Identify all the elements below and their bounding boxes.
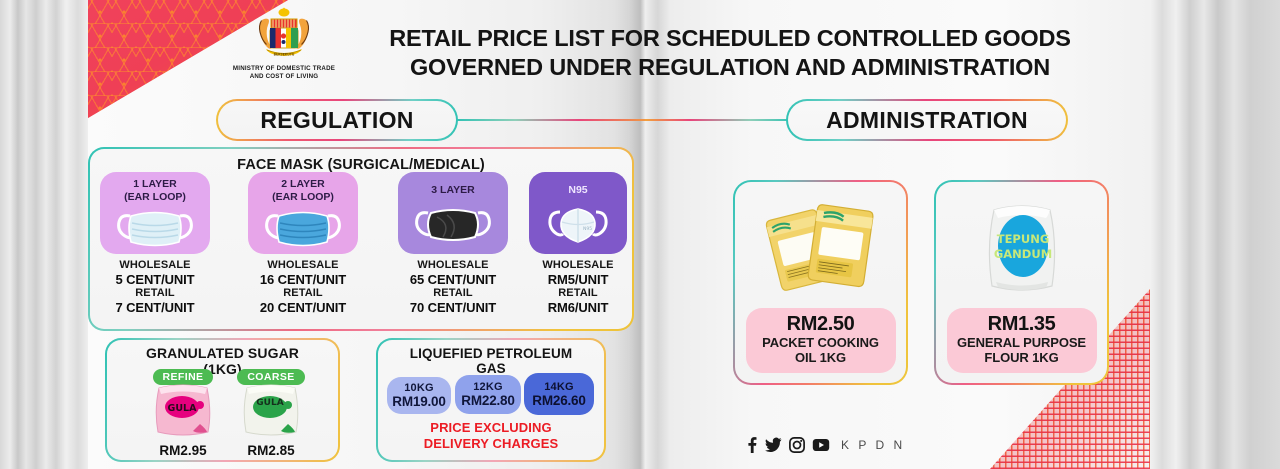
- mask-tile-n95: N95 N95: [529, 172, 627, 254]
- mask-label-1-layer: 1 LAYER (EAR LOOP): [124, 178, 186, 203]
- retail-label-2: RETAIL: [248, 287, 358, 300]
- wholesale-label-1: WHOLESALE: [100, 259, 210, 272]
- regulation-label: REGULATION: [216, 99, 458, 141]
- lpg-title-line1: LIQUEFIED PETROLEUM: [378, 346, 604, 361]
- section-pill-regulation: REGULATION: [216, 99, 458, 141]
- instagram-icon[interactable]: [789, 437, 805, 453]
- sugar-title-line1: GRANULATED SUGAR: [107, 346, 338, 362]
- price-block-2-layer: WHOLESALE 16 CENT/UNIT RETAIL 20 CENT/UN…: [248, 259, 358, 316]
- emblem-caption: MINISTRY OF DOMESTIC TRADE AND COST OF L…: [232, 65, 336, 82]
- lpg-option-10kg[interactable]: 10KG RM19.00: [387, 377, 451, 414]
- product-name-flour: GENERAL PURPOSE FLOUR 1KG: [953, 335, 1091, 366]
- administration-connector-line: [645, 119, 795, 121]
- surgical-mask-icon: [116, 203, 194, 254]
- mask-item-1-layer: 1 LAYER (EAR LOOP) WHOLESALE 5 CENT/UNIT…: [100, 172, 210, 316]
- lpg-note-line1: PRICE EXCLUDING: [378, 420, 604, 436]
- flour-label-line2: GANDUM: [993, 247, 1051, 261]
- face-mask-title: FACE MASK (SURGICAL/MEDICAL): [90, 157, 632, 173]
- ministry-emblem: BERSEKUTU MINISTRY OF DOMESTIC TRADE AND…: [232, 6, 336, 82]
- product-card-flour: TEPUNG GANDUM RM1.35 GENERAL PURPOSE FLO…: [934, 180, 1109, 385]
- product-name-cooking-oil: PACKET COOKING OIL 1KG: [752, 335, 890, 366]
- mask-tile-3-layer: 3 LAYER: [398, 172, 508, 254]
- lpg-price-14kg: RM26.60: [532, 393, 585, 408]
- surgical-mask-icon: [264, 203, 342, 254]
- mask-item-3-layer: 3 LAYER WHOLESALE 65 CENT/UNIT RETAIL 70…: [398, 172, 508, 316]
- social-media-bar: K P D N: [746, 437, 905, 453]
- malaysia-coat-of-arms-icon: BERSEKUTU: [248, 6, 320, 64]
- lpg-size-12kg: 12KG: [473, 381, 503, 393]
- cooking-oil-packets-icon: [755, 194, 887, 302]
- lpg-price-10kg: RM19.00: [392, 394, 445, 409]
- wholesale-price-2: 16 CENT/UNIT: [248, 272, 358, 287]
- retail-label-4: RETAIL: [529, 287, 627, 300]
- lpg-size-14kg: 14KG: [544, 381, 574, 393]
- lpg-note-line2: DELIVERY CHARGES: [378, 436, 604, 452]
- lpg-size-10kg: 10KG: [404, 382, 434, 394]
- retail-price-1: 7 CENT/UNIT: [100, 300, 210, 315]
- emblem-caption-line2: AND COST OF LIVING: [250, 73, 319, 80]
- wholesale-price-4: RM5/UNIT: [529, 272, 627, 287]
- product-price-cooking-oil: RM2.50: [752, 313, 890, 335]
- svg-text:GULA: GULA: [168, 403, 198, 414]
- svg-text:BERSEKUTU: BERSEKUTU: [274, 53, 295, 57]
- wholesale-label-4: WHOLESALE: [529, 259, 627, 272]
- mask-label-2-layer: 2 LAYER (EAR LOOP): [272, 178, 334, 203]
- retail-price-3: 70 CENT/UNIT: [398, 300, 508, 315]
- product-price-flour: RM1.35: [953, 313, 1091, 335]
- flour-sack-icon: TEPUNG GANDUM: [970, 194, 1074, 302]
- administration-label: ADMINISTRATION: [786, 99, 1068, 141]
- lpg-price-12kg: RM22.80: [461, 393, 514, 408]
- mask-item-2-layer: 2 LAYER (EAR LOOP) WHOLESALE 16 CENT/UNI…: [248, 172, 358, 316]
- regulation-connector-line: [455, 119, 655, 121]
- wholesale-price-3: 65 CENT/UNIT: [398, 272, 508, 287]
- product-card-cooking-oil: RM2.50 PACKET COOKING OIL 1KG: [733, 180, 908, 385]
- title-line-2: GOVERNED UNDER REGULATION AND ADMINISTRA…: [370, 53, 1090, 82]
- n95-mask-icon: N95: [542, 197, 614, 254]
- mask-label-n95: N95: [568, 184, 587, 197]
- price-block-3-layer: WHOLESALE 65 CENT/UNIT RETAIL 70 CENT/UN…: [398, 259, 508, 316]
- sugar-item-refine: REFINE GULA RM2.95: [140, 367, 226, 458]
- section-pill-administration: ADMINISTRATION: [786, 99, 1068, 141]
- facebook-icon[interactable]: [746, 437, 758, 453]
- infographic-root: BERSEKUTU MINISTRY OF DOMESTIC TRADE AND…: [0, 0, 1280, 469]
- sugar-item-coarse: COARSE GULA RM2.85: [228, 367, 314, 458]
- mask-item-n95: N95 N95 WHOLESALE RM5/UNIT RETAIL RM6/UN…: [529, 172, 627, 316]
- surgical-mask-icon: [413, 197, 493, 254]
- youtube-icon[interactable]: [812, 437, 830, 453]
- retail-price-4: RM6/UNIT: [529, 300, 627, 315]
- social-handle: K P D N: [841, 438, 905, 452]
- product-price-plate-flour: RM1.35 GENERAL PURPOSE FLOUR 1KG: [947, 308, 1097, 373]
- retail-price-2: 20 CENT/UNIT: [248, 300, 358, 315]
- wholesale-price-1: 5 CENT/UNIT: [100, 272, 210, 287]
- lpg-option-14kg[interactable]: 14KG RM26.60: [524, 373, 594, 415]
- mask-tile-1-layer: 1 LAYER (EAR LOOP): [100, 172, 210, 254]
- price-block-n95: WHOLESALE RM5/UNIT RETAIL RM6/UNIT: [529, 259, 627, 316]
- retail-label-1: RETAIL: [100, 287, 210, 300]
- page-title: RETAIL PRICE LIST FOR SCHEDULED CONTROLL…: [370, 24, 1090, 81]
- lpg-price-note: PRICE EXCLUDING DELIVERY CHARGES: [378, 420, 604, 451]
- sugar-price-coarse: RM2.85: [228, 443, 314, 458]
- wholesale-label-3: WHOLESALE: [398, 259, 508, 272]
- mask-label-3-layer: 3 LAYER: [431, 184, 474, 197]
- sugar-pack-refine-icon: GULA: [140, 376, 226, 443]
- sugar-pack-coarse-icon: GULA: [228, 376, 314, 443]
- wholesale-label-2: WHOLESALE: [248, 259, 358, 272]
- product-price-plate-cooking-oil: RM2.50 PACKET COOKING OIL 1KG: [746, 308, 896, 373]
- emblem-caption-line1: MINISTRY OF DOMESTIC TRADE: [233, 65, 335, 72]
- title-line-1: RETAIL PRICE LIST FOR SCHEDULED CONTROLL…: [370, 24, 1090, 53]
- flour-label-line1: TEPUNG: [996, 232, 1049, 246]
- twitter-icon[interactable]: [765, 437, 782, 453]
- price-block-1-layer: WHOLESALE 5 CENT/UNIT RETAIL 7 CENT/UNIT: [100, 259, 210, 316]
- svg-text:N95: N95: [583, 226, 592, 232]
- retail-label-3: RETAIL: [398, 287, 508, 300]
- lpg-option-12kg[interactable]: 12KG RM22.80: [455, 375, 521, 414]
- svg-text:GULA: GULA: [256, 398, 283, 408]
- mask-tile-2-layer: 2 LAYER (EAR LOOP): [248, 172, 358, 254]
- sugar-price-refine: RM2.95: [140, 443, 226, 458]
